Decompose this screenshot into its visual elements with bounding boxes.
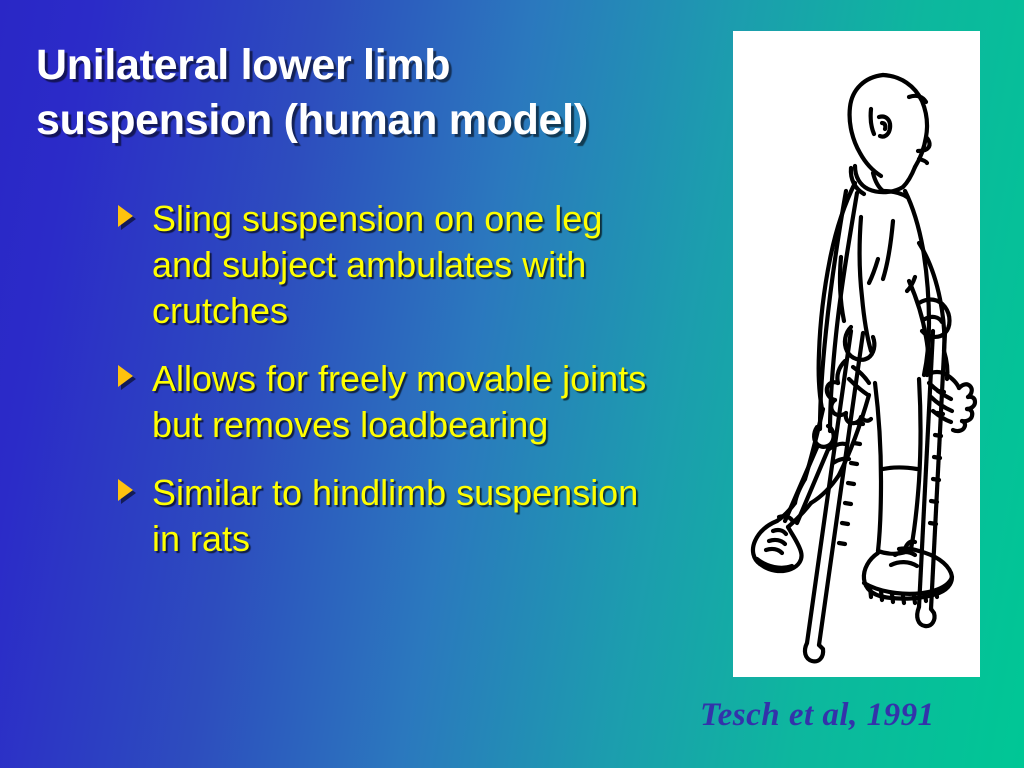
citation-text: Tesch et al, 1991 bbox=[700, 697, 935, 734]
bullet-item: Allows for freely movable joints but rem… bbox=[118, 356, 698, 448]
triangle-bullet-icon bbox=[118, 365, 136, 389]
bullet-list: Sling suspension on one leg and subject … bbox=[118, 196, 698, 585]
presentation-slide: Unilateral lower limb suspension (human … bbox=[0, 0, 1024, 768]
line-drawing-person-on-crutches-icon bbox=[733, 31, 980, 677]
slide-title: Unilateral lower limb suspension (human … bbox=[36, 38, 726, 147]
bullet-item-label: Sling suspension on one leg and subject … bbox=[152, 196, 672, 334]
bullet-item-label: Similar to hindlimb suspension in rats bbox=[152, 470, 672, 562]
bullet-item: Sling suspension on one leg and subject … bbox=[118, 196, 698, 334]
figure-panel bbox=[733, 31, 980, 677]
triangle-bullet-icon bbox=[118, 205, 136, 229]
triangle-bullet-icon bbox=[118, 479, 136, 503]
bullet-item-label: Allows for freely movable joints but rem… bbox=[152, 356, 672, 448]
bullet-item: Similar to hindlimb suspension in rats bbox=[118, 470, 698, 562]
